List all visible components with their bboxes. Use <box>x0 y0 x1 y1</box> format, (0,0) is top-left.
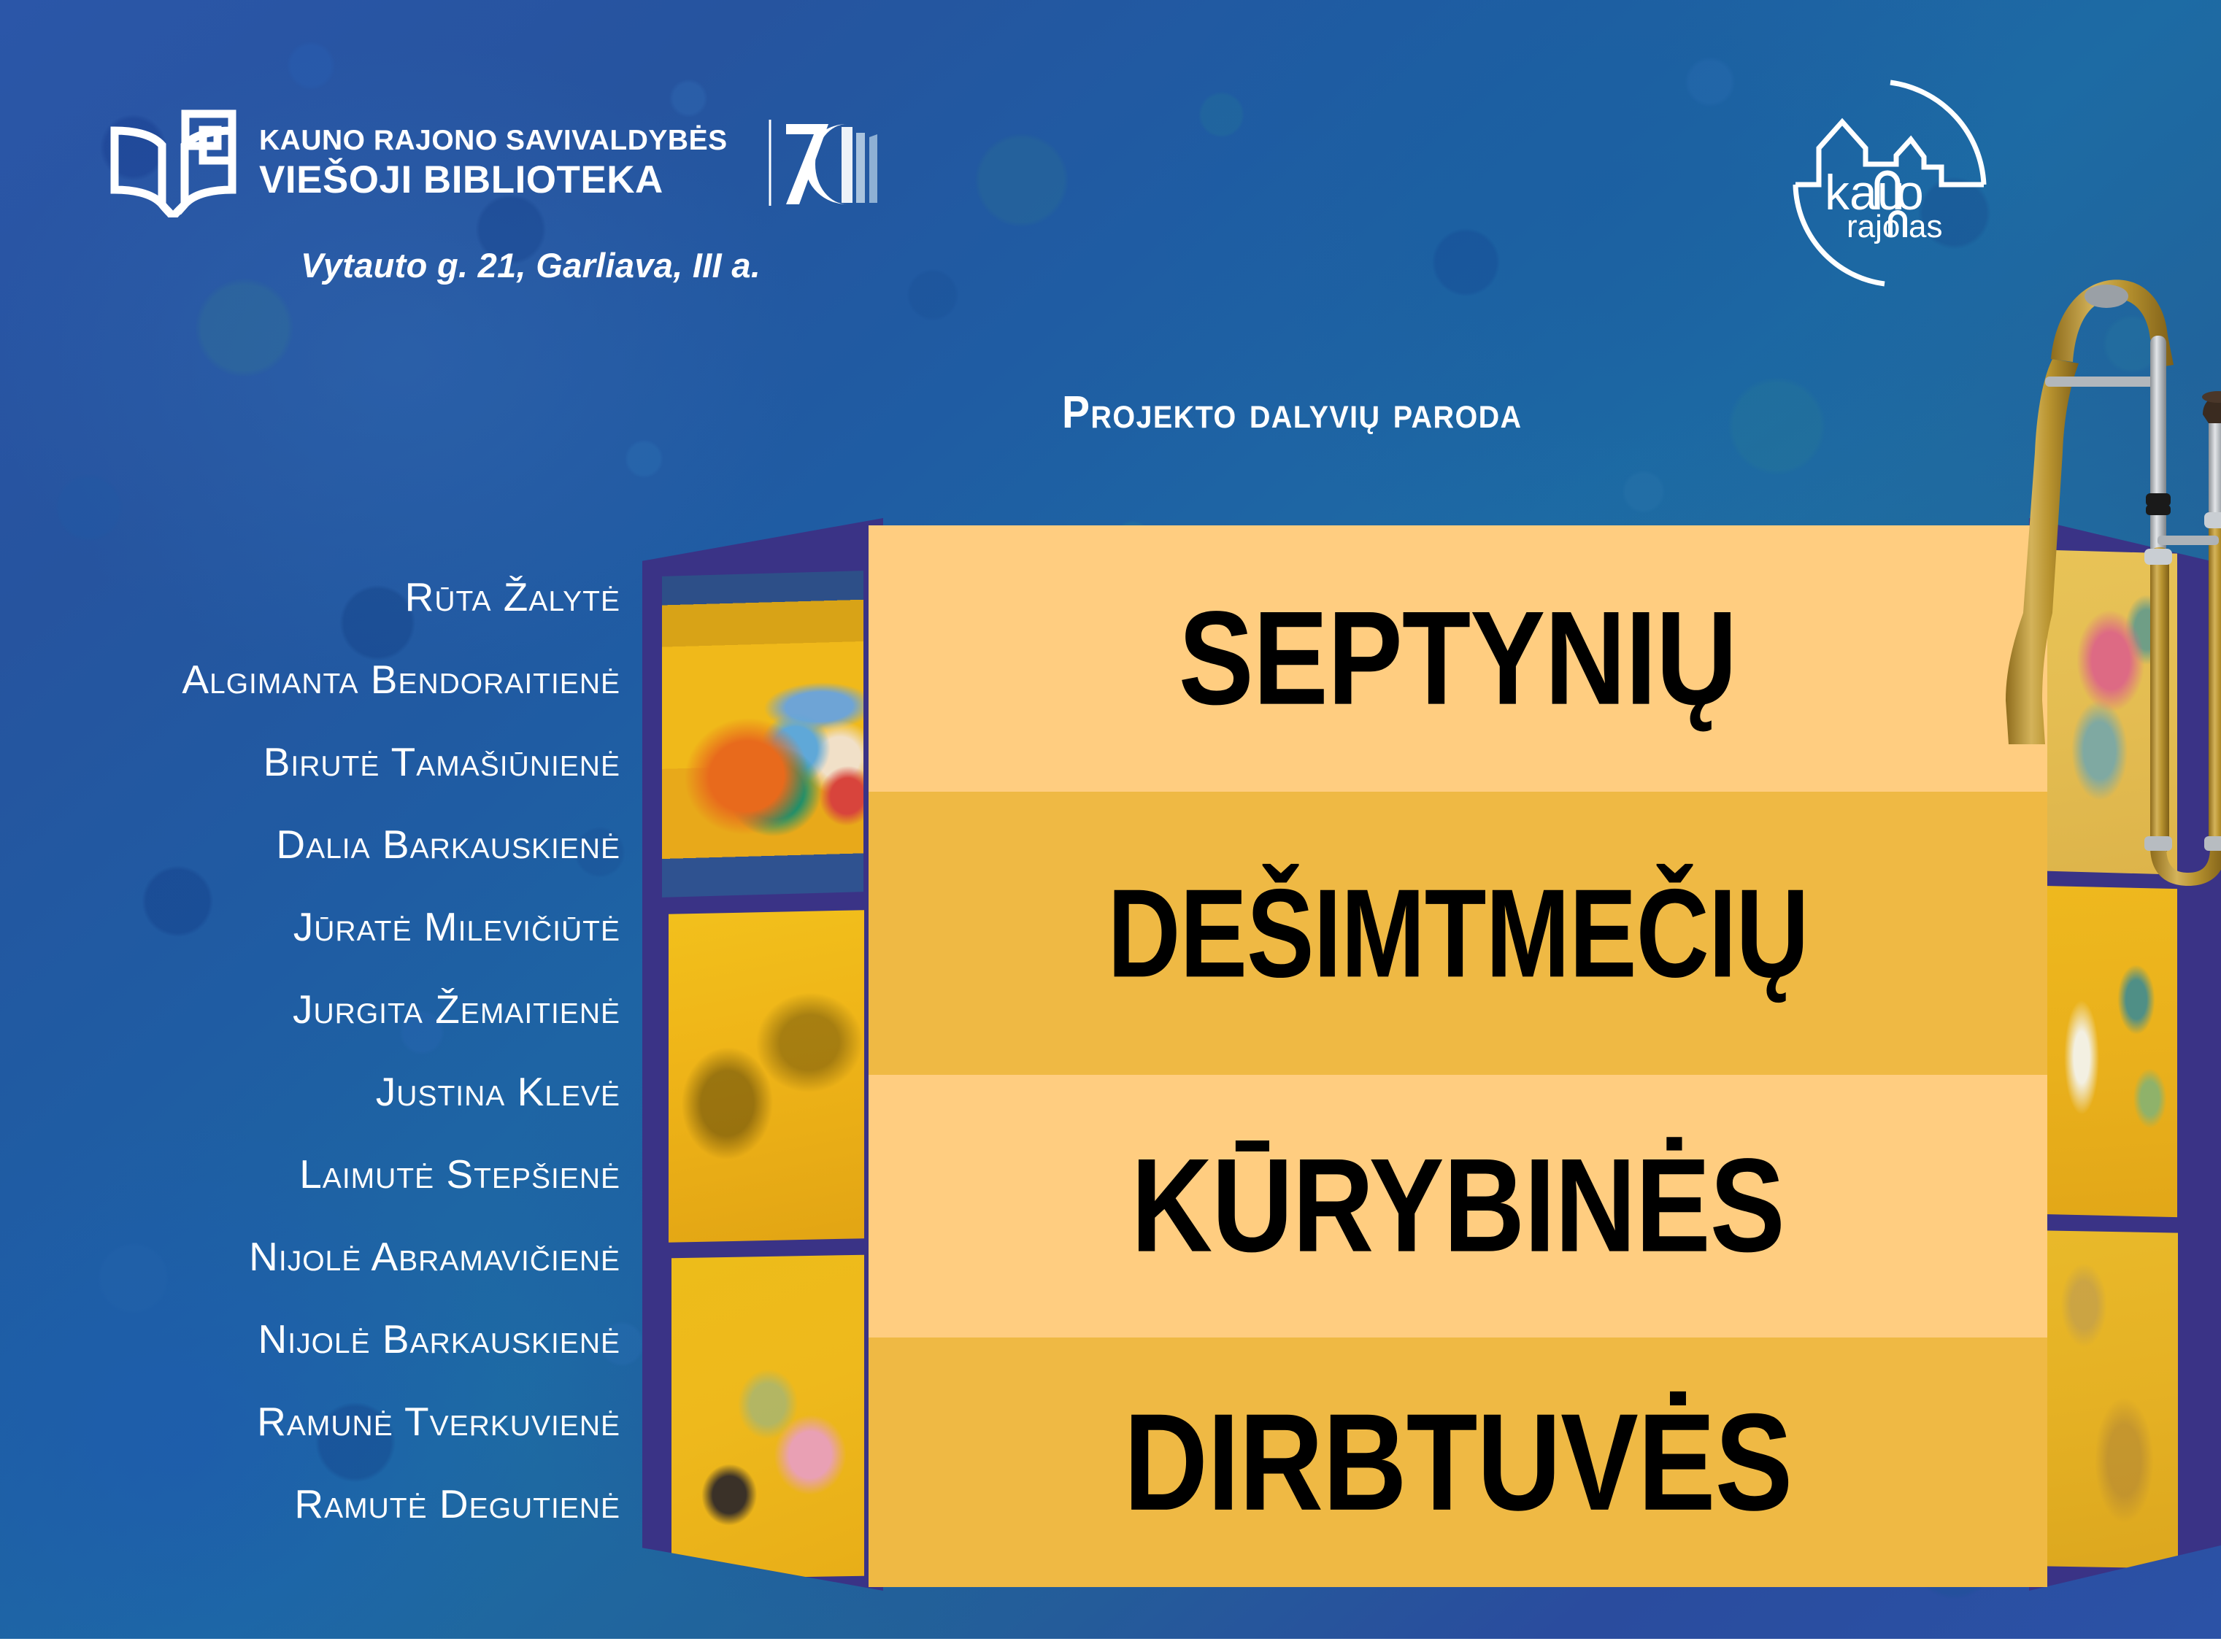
participant-name: Jūratė Milevičiūtė <box>73 886 620 968</box>
participant-name: Ramunė Tverkuvienė <box>73 1381 620 1463</box>
participant-name: Rūta Žalytė <box>73 556 620 638</box>
library-name-line2: VIEŠOJI BIBLIOTEKA <box>259 161 728 199</box>
title-line-2: DEŠIMTMEČIŲ <box>1107 871 1808 996</box>
library-name-line1: KAUNO RAJONO SAVIVALDYBĖS <box>259 126 728 155</box>
artwork-right-2 <box>2041 886 2177 1217</box>
anniversary-70-badge-icon <box>766 115 882 210</box>
title-band-2: DEŠIMTMEČIŲ <box>869 792 2047 1075</box>
participants-list: Rūta Žalytė Algimanta Bendoraitienė Biru… <box>73 556 620 1545</box>
artwork-right-3 <box>2044 1230 2178 1568</box>
title-line-4: DIRBTUVĖS <box>1124 1393 1793 1531</box>
participant-name: Laimutė Stepšienė <box>73 1133 620 1216</box>
left-wing-frame <box>642 518 883 1591</box>
open-book-logo-icon <box>109 108 237 217</box>
artwork-left-2 <box>669 910 864 1243</box>
exhibition-kicker: Projekto dalyvių paroda <box>1062 387 1523 439</box>
library-wordmark: KAUNO RAJONO SAVIVALDYBĖS VIEŠOJI BIBLIO… <box>259 126 728 199</box>
participant-name: Nijolė Barkauskienė <box>73 1298 620 1381</box>
poster-canvas: KAUNO RAJONO SAVIVALDYBĖS VIEŠOJI BIBLIO… <box>0 0 2221 1652</box>
participant-name: Dalia Barkauskienė <box>73 803 620 886</box>
svg-text:as: as <box>1909 209 1942 244</box>
artwork-right-1 <box>2039 549 2177 874</box>
participant-name: Nijolė Abramavičienė <box>73 1216 620 1298</box>
participant-name: Algimanta Bendoraitienė <box>73 638 620 721</box>
artwork-left-1 <box>662 571 863 898</box>
library-address: Vytauto g. 21, Garliava, III a. <box>301 245 761 285</box>
title-band-3: KŪRYBINĖS <box>869 1075 2047 1338</box>
title-band-4: DIRBTUVĖS <box>869 1338 2047 1587</box>
library-logo-lockup: KAUNO RAJONO SAVIVALDYBĖS VIEŠOJI BIBLIO… <box>109 108 882 217</box>
participant-name: Ramutė Degutienė <box>73 1463 620 1545</box>
title-line-1: SEPTYNIŲ <box>1179 592 1737 725</box>
artwork-left-3 <box>671 1255 864 1580</box>
kauno-rajonas-logo-icon: kau o rajo as <box>1788 77 2007 288</box>
exhibition-title-block: SEPTYNIŲ DEŠIMTMEČIŲ KŪRYBINĖS DIRBTUVĖS <box>869 525 2047 1587</box>
participant-name: Jurgita Žemaitienė <box>73 968 620 1051</box>
participant-name: Birutė Tamašiūnienė <box>73 721 620 803</box>
right-wing-frame <box>2029 518 2221 1591</box>
title-band-1: SEPTYNIŲ <box>869 525 2047 792</box>
participant-name: Justina Klevė <box>73 1051 620 1133</box>
title-line-3: KŪRYBINĖS <box>1131 1140 1785 1273</box>
